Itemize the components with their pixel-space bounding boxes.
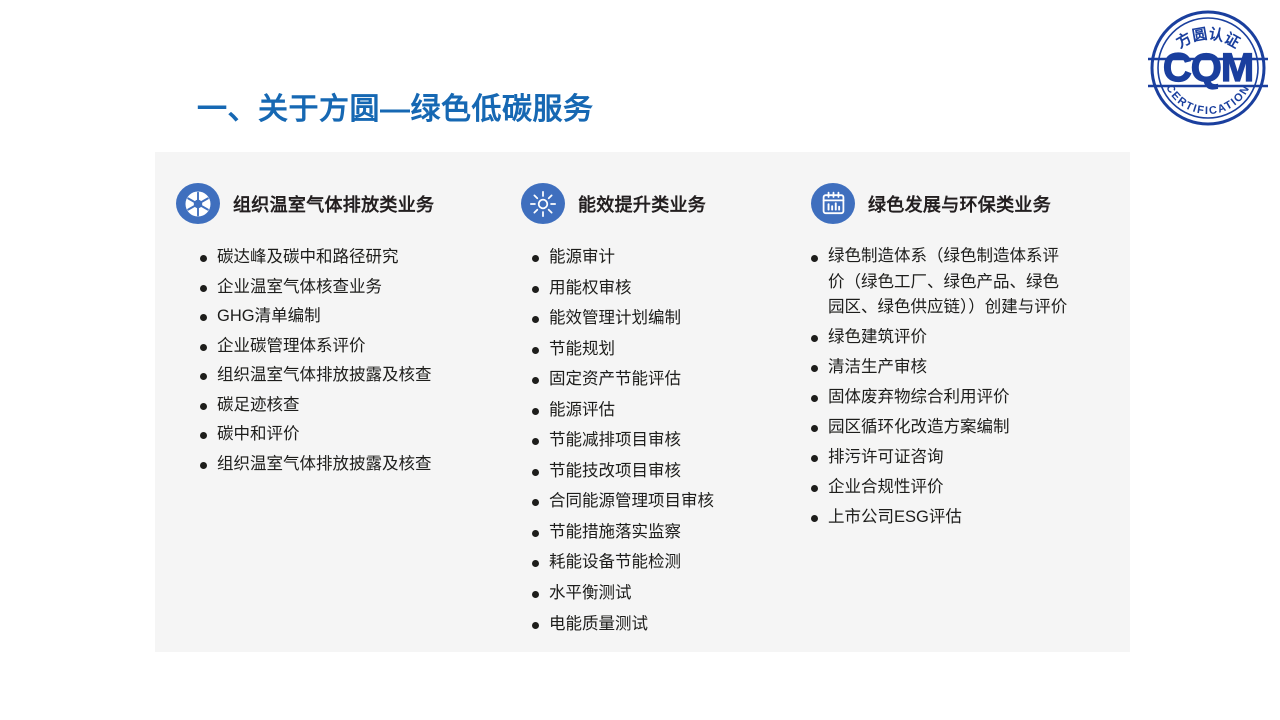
list-item: 企业碳管理体系评价 (200, 333, 503, 360)
list-item: GHG清单编制 (200, 303, 503, 330)
service-list-ghg: 碳达峰及碳中和路径研究 企业温室气体核查业务 GHG清单编制 企业碳管理体系评价… (176, 244, 503, 478)
list-item: 组织温室气体排放披露及核查 (200, 362, 503, 389)
list-item: 清洁生产审核 (811, 354, 1130, 381)
column-heading-label: 绿色发展与环保类业务 (868, 191, 1051, 217)
page-title: 一、关于方圆—绿色低碳服务 (197, 92, 594, 128)
calendar-chart-icon (811, 183, 855, 224)
list-item: 组织温室气体排放披露及核查 (200, 451, 503, 478)
list-item: 能源审计 (532, 244, 803, 271)
list-item: 碳足迹核查 (200, 392, 503, 419)
list-item: 节能规划 (532, 336, 803, 363)
column-heading-label: 能效提升类业务 (578, 191, 706, 217)
cqm-certification-logo: 方圆认证 CERTIFICATION CQM (1146, 6, 1270, 130)
content-panel: 组织温室气体排放类业务 碳达峰及碳中和路径研究 企业温室气体核查业务 GHG清单… (155, 152, 1130, 652)
aperture-icon (176, 183, 220, 224)
list-item: 绿色制造体系（绿色制造体系评价（绿色工厂、绿色产品、绿色园区、绿色供应链））创建… (811, 244, 1073, 321)
service-list-energy: 能源审计 用能权审核 能效管理计划编制 节能规划 固定资产节能评估 能源评估 节… (521, 244, 803, 638)
column-header-energy: 能效提升类业务 (521, 183, 803, 224)
list-item: 碳达峰及碳中和路径研究 (200, 244, 503, 271)
sun-brightness-icon (521, 183, 565, 224)
list-item: 园区循环化改造方案编制 (811, 414, 1130, 441)
list-item: 能效管理计划编制 (532, 305, 803, 332)
list-item: 电能质量测试 (532, 611, 803, 638)
list-item: 节能减排项目审核 (532, 427, 803, 454)
slide-canvas: 方圆认证 CERTIFICATION CQM 一、关于方圆—绿色低碳服务 (0, 0, 1280, 720)
list-item: 节能技改项目审核 (532, 458, 803, 485)
list-item: 企业合规性评价 (811, 474, 1130, 501)
column-header-green: 绿色发展与环保类业务 (811, 183, 1130, 224)
service-columns: 组织温室气体排放类业务 碳达峰及碳中和路径研究 企业温室气体核查业务 GHG清单… (155, 152, 1130, 652)
service-column-ghg: 组织温室气体排放类业务 碳达峰及碳中和路径研究 企业温室气体核查业务 GHG清单… (155, 183, 503, 480)
service-list-green: 绿色制造体系（绿色制造体系评价（绿色工厂、绿色产品、绿色园区、绿色供应链））创建… (811, 244, 1130, 531)
list-item: 排污许可证咨询 (811, 444, 1130, 471)
svg-text:CQM: CQM (1163, 46, 1253, 90)
column-header-ghg: 组织温室气体排放类业务 (176, 183, 503, 224)
list-item: 碳中和评价 (200, 421, 503, 448)
service-column-energy: 能效提升类业务 能源审计 用能权审核 能效管理计划编制 节能规划 固定资产节能评… (503, 183, 803, 641)
list-item: 能源评估 (532, 397, 803, 424)
list-item: 上市公司ESG评估 (811, 504, 1130, 531)
column-heading-label: 组织温室气体排放类业务 (233, 191, 434, 217)
list-item: 固体废弃物综合利用评价 (811, 384, 1130, 411)
list-item: 企业温室气体核查业务 (200, 274, 503, 301)
list-item: 节能措施落实监察 (532, 519, 803, 546)
list-item: 合同能源管理项目审核 (532, 488, 803, 515)
list-item: 耗能设备节能检测 (532, 549, 803, 576)
list-item: 水平衡测试 (532, 580, 803, 607)
service-column-green: 绿色发展与环保类业务 绿色制造体系（绿色制造体系评价（绿色工厂、绿色产品、绿色园… (803, 183, 1130, 534)
list-item: 绿色建筑评价 (811, 324, 1130, 351)
list-item: 固定资产节能评估 (532, 366, 803, 393)
list-item: 用能权审核 (532, 275, 803, 302)
